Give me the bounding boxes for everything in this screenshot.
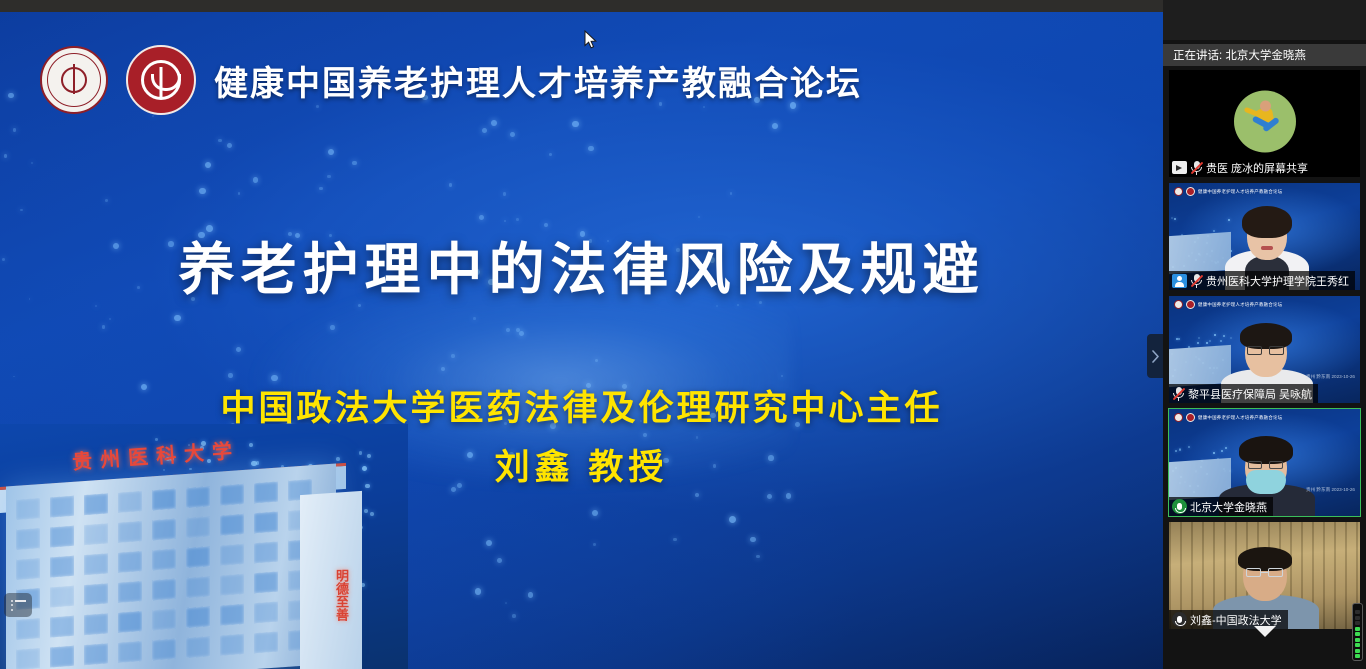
mouse-cursor [584, 30, 597, 50]
user-icon [1172, 274, 1187, 288]
guizhou-medical-university-logo [40, 46, 108, 114]
virtual-background-banner: 健康中国养老护理人才培养产教融合论坛 [1174, 413, 1282, 422]
audio-level-meter [1352, 603, 1363, 661]
video-tile-active-speaker[interactable]: 健康中国养老护理人才培养产教融合论坛 贵州 黔东南 2023-10-26 北京大… [1169, 409, 1360, 516]
chevron-right-icon [1151, 350, 1160, 363]
shared-screen-area[interactable]: 健康中国养老护理人才培养产教融合论坛 养老护理中的法律风险及规避 中国政法大学医… [0, 12, 1163, 669]
active-speaker-bar: 正在讲话: 北京大学金晓燕 [1163, 44, 1366, 66]
participant-panel: 正在讲话: 北京大学金晓燕 贵医 庞冰的屏幕共享 [1163, 0, 1366, 669]
video-tile[interactable]: 健康中国养老护理人才培养产教融合论坛 贵州 黔东南 2023-10-26 黎平县… [1169, 296, 1360, 403]
slide-banner-title: 健康中国养老护理人才培养产教融合论坛 [214, 56, 862, 105]
mic-active-icon [1172, 499, 1187, 514]
chevron-down-icon[interactable] [1254, 626, 1276, 637]
active-speaker-label: 正在讲话: 北京大学金晓燕 [1163, 47, 1306, 63]
video-timestamp: 贵州 黔东南 2023-10-26 [1306, 487, 1355, 494]
zoom-meeting-window: 健康中国养老护理人才培养产教融合论坛 养老护理中的法律风险及规避 中国政法大学医… [0, 0, 1366, 669]
tile-label: 贵医 庞冰的屏幕共享 [1169, 158, 1314, 177]
video-tiles-list: 贵医 庞冰的屏幕共享 健康中国养老护理人才培养产教融合论坛 [1163, 70, 1366, 622]
collapse-panel-button[interactable] [1147, 334, 1163, 378]
slide-header: 健康中国养老护理人才培养产教融合论坛 [40, 45, 862, 115]
face-mask [1246, 470, 1286, 494]
participant-name: 黎平县医疗保障局 吴咏航 [1188, 386, 1312, 402]
mic-muted-icon [1172, 386, 1185, 401]
tile-label: 北京大学金晓燕 [1169, 497, 1273, 516]
banner-text: 健康中国养老护理人才培养产教融合论坛 [1198, 189, 1282, 195]
list-menu-icon[interactable] [4, 593, 32, 617]
tile-label: 贵州医科大学护理学院王秀红 [1169, 271, 1355, 290]
avatar [1234, 90, 1296, 152]
video-timestamp: 贵州 黔东南 2023-10-26 [1306, 374, 1355, 381]
virtual-background-banner: 健康中国养老护理人才培养产教融合论坛 [1174, 187, 1282, 196]
tile-label: 黎平县医疗保障局 吴咏航 [1169, 384, 1318, 403]
participant-name: 贵州医科大学护理学院王秀红 [1206, 273, 1349, 289]
mic-active-icon [1172, 612, 1187, 627]
participant-name: 北京大学金晓燕 [1190, 499, 1267, 515]
mic-muted-icon [1190, 160, 1203, 175]
slide-main-title: 养老护理中的法律风险及规避 [0, 225, 1163, 306]
video-tile[interactable]: 刘鑫-中国政法大学 [1169, 522, 1360, 629]
participant-name: 贵医 庞冰的屏幕共享 [1206, 160, 1308, 176]
screen-share-icon [1172, 161, 1187, 174]
university-building-photo: 贵州医科大学 明德至善 [0, 424, 408, 669]
virtual-background-banner: 健康中国养老护理人才培养产教融合论坛 [1174, 300, 1282, 309]
banner-text: 健康中国养老护理人才培养产教融合论坛 [1198, 415, 1282, 421]
video-tile[interactable]: 健康中国养老护理人才培养产教融合论坛 贵州医科大学护理学院王秀红 [1169, 183, 1360, 290]
peking-university-logo [126, 45, 196, 115]
building-vertical-text: 明德至善 [332, 569, 350, 621]
panel-top-gap [1163, 0, 1366, 40]
window-top-strip [0, 0, 1163, 12]
banner-text: 健康中国养老护理人才培养产教融合论坛 [1198, 302, 1282, 308]
mic-muted-icon [1190, 273, 1203, 288]
presentation-slide: 健康中国养老护理人才培养产教融合论坛 养老护理中的法律风险及规避 中国政法大学医… [0, 12, 1163, 669]
video-tile[interactable]: 贵医 庞冰的屏幕共享 [1169, 70, 1360, 177]
